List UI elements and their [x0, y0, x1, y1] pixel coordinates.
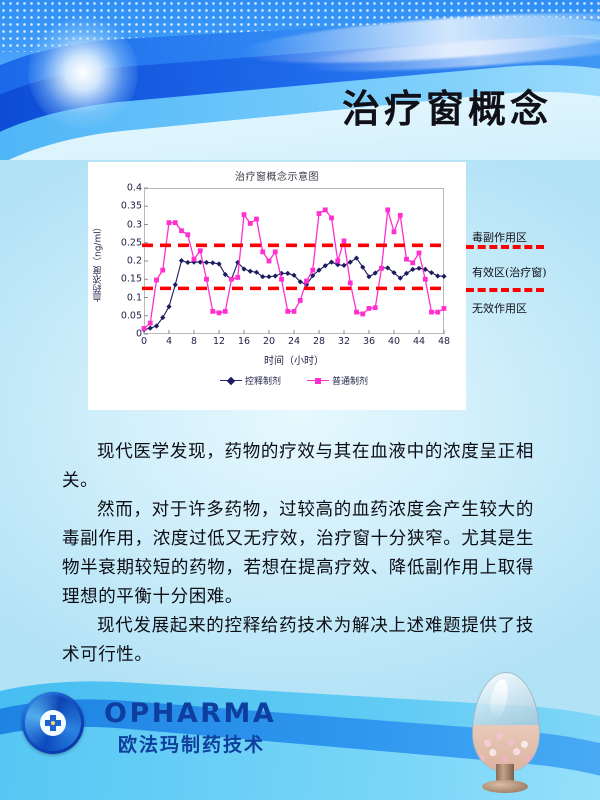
data-point: [223, 309, 228, 314]
data-point: [416, 266, 421, 271]
legend-line-magenta: [307, 380, 329, 381]
data-point: [429, 270, 434, 275]
legend-item-0: 控释制剂: [220, 374, 281, 387]
data-point: [423, 277, 428, 282]
data-point: [354, 310, 359, 315]
data-point: [435, 310, 440, 315]
legend-label-0: 控释制剂: [245, 374, 281, 387]
data-point: [248, 221, 253, 226]
paragraph-1: 然而，对于许多药物，过较高的血药浓度会产生较大的毒副作用，浓度过低又无疗效，治疗…: [62, 496, 534, 612]
x-tick-label: 48: [438, 336, 450, 347]
data-point: [248, 269, 253, 274]
chart-legend: 控释制剂 普通制剂: [144, 374, 444, 387]
data-point: [373, 305, 378, 310]
data-point: [267, 259, 272, 264]
y-tick-label: 0.3: [127, 219, 142, 230]
bottle-highlight: [487, 678, 511, 720]
y-tick-label: 0.25: [121, 237, 142, 248]
data-point: [179, 228, 184, 233]
chart-x-axis-ticks: 04812162024283236404448: [144, 336, 444, 352]
data-point: [217, 310, 222, 315]
data-point: [260, 249, 265, 254]
data-point: [323, 208, 328, 213]
data-point: [385, 208, 390, 213]
data-point: [266, 274, 271, 279]
header-glow-spot: [28, 18, 138, 128]
data-point: [392, 229, 397, 234]
x-tick-label: 36: [363, 336, 375, 347]
logo-center-dot: [51, 721, 55, 725]
data-point: [229, 277, 234, 282]
paragraph-0: 现代医学发现，药物的疗效与其在血液中的浓度呈正相关。: [62, 438, 534, 496]
y-tick-label: 0.2: [127, 256, 142, 267]
chart-x-axis-label: 时间（小时）: [144, 352, 444, 367]
data-point: [329, 259, 334, 264]
data-point: [367, 306, 372, 311]
effective-threshold-extension: [466, 288, 544, 292]
series-line-0: [144, 258, 444, 330]
brand-name-chinese: 欧法玛制药技术: [118, 730, 265, 757]
page-title: 治疗窗概念: [342, 78, 552, 133]
x-tick-label: 32: [338, 336, 350, 347]
data-point: [198, 248, 203, 253]
data-point: [142, 326, 147, 331]
diamond-marker-icon: [227, 377, 235, 385]
data-point: [192, 257, 197, 262]
data-point: [279, 277, 284, 282]
paragraph-2: 现代发展起来的控释给药技术为解决上述难题提供了技术可行性。: [62, 612, 534, 670]
data-point: [435, 273, 440, 278]
data-point: [173, 220, 178, 225]
company-logo-icon: [22, 692, 84, 754]
data-point: [254, 217, 259, 222]
square-marker-icon: [315, 378, 321, 384]
data-point: [360, 312, 365, 317]
data-point: [160, 268, 165, 273]
data-point: [404, 257, 409, 262]
body-text: 现代医学发现，药物的疗效与其在血液中的浓度呈正相关。 然而，对于许多药物，过较高…: [62, 438, 534, 670]
data-point: [179, 258, 184, 263]
x-tick-label: 24: [288, 336, 300, 347]
data-point: [204, 260, 209, 265]
data-point: [441, 274, 446, 279]
data-point: [335, 259, 340, 264]
data-point: [298, 298, 303, 303]
data-point: [329, 216, 334, 221]
bottle-base: [482, 780, 528, 793]
slide-page: 治疗窗概念 治疗窗概念示意图 血药浓度（ng/ml） 00.050.10.150…: [0, 0, 600, 800]
data-point: [185, 260, 190, 265]
x-tick-label: 20: [263, 336, 275, 347]
header-banner: 治疗窗概念: [0, 0, 600, 160]
chart-panel: 治疗窗概念示意图 血药浓度（ng/ml） 00.050.10.150.20.25…: [88, 162, 466, 410]
x-tick-label: 40: [388, 336, 400, 347]
x-tick-label: 12: [213, 336, 225, 347]
y-tick-label: 0.4: [127, 183, 142, 194]
data-point: [304, 279, 309, 284]
legend-item-1: 普通制剂: [307, 374, 368, 387]
x-tick-label: 4: [166, 336, 172, 347]
data-point: [173, 282, 178, 287]
chart-y-axis-ticks: 00.050.10.150.20.250.30.350.4: [104, 188, 142, 334]
data-point: [410, 260, 415, 265]
data-point: [242, 212, 247, 217]
toxic-threshold-extension: [466, 245, 544, 249]
brand-name-english: OPHARMA: [104, 698, 276, 729]
zone-label-effective: 有效区(治疗窗): [472, 264, 547, 280]
data-point: [148, 321, 153, 326]
data-point: [348, 281, 353, 286]
x-tick-label: 8: [191, 336, 197, 347]
data-point: [273, 249, 278, 254]
x-tick-label: 16: [238, 336, 250, 347]
data-point: [235, 275, 240, 280]
x-tick-label: 0: [141, 336, 147, 347]
chart-title: 治疗窗概念示意图: [88, 168, 466, 183]
zone-label-toxic: 毒副作用区: [472, 229, 527, 245]
data-point: [273, 273, 278, 278]
data-point: [341, 263, 346, 268]
y-tick-label: 0.35: [121, 201, 142, 212]
data-point: [185, 232, 190, 237]
data-point: [216, 261, 221, 266]
data-point: [292, 309, 297, 314]
data-point: [154, 278, 159, 283]
data-point: [442, 306, 447, 311]
data-point: [210, 260, 215, 265]
data-point: [167, 220, 172, 225]
y-tick-label: 0.1: [127, 292, 142, 303]
x-tick-label: 28: [313, 336, 325, 347]
y-tick-label: 0.15: [121, 274, 142, 285]
data-point: [310, 268, 315, 273]
x-tick-label: 44: [413, 336, 425, 347]
zone-label-ineffective: 无效作用区: [472, 300, 527, 316]
data-point: [204, 277, 209, 282]
pill-bottle-image: [462, 672, 548, 794]
data-point: [429, 310, 434, 315]
data-point: [285, 309, 290, 314]
data-point: [417, 251, 422, 256]
data-point: [379, 266, 384, 271]
data-point: [148, 326, 153, 331]
data-point: [398, 213, 403, 218]
data-point: [285, 271, 290, 276]
bottle-body: [472, 672, 540, 772]
legend-line-navy: [220, 380, 242, 381]
chart-series-layer: [144, 188, 444, 334]
data-point: [210, 309, 215, 314]
data-point: [317, 211, 322, 216]
legend-label-1: 普通制剂: [332, 374, 368, 387]
data-point: [342, 239, 347, 244]
data-point: [166, 304, 171, 309]
y-tick-label: 0.05: [121, 310, 142, 321]
